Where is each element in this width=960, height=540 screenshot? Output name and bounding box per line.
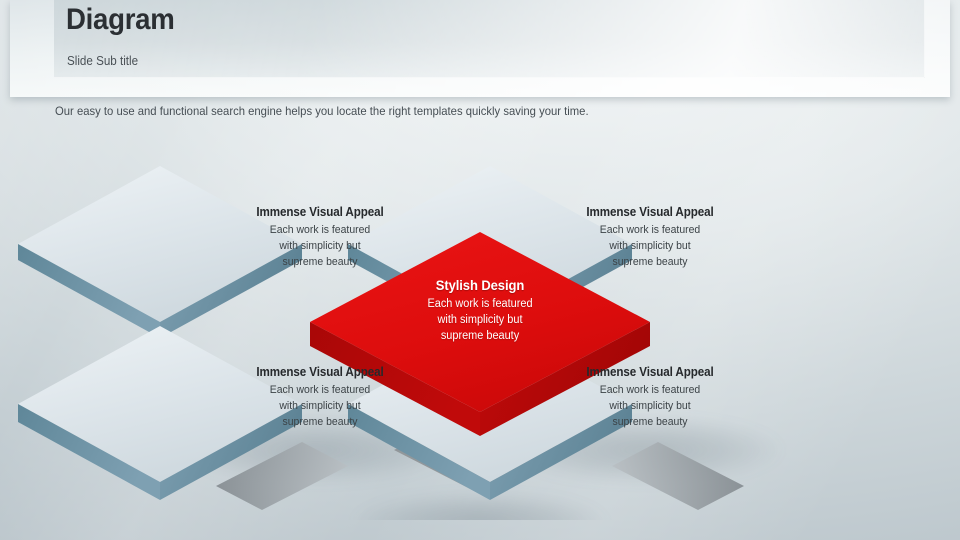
slide-header-panel: Diagram Slide Sub title — [10, 0, 950, 97]
slide-header-inner: Diagram Slide Sub title — [54, 0, 925, 78]
intro-paragraph: Our easy to use and functional search en… — [55, 104, 589, 118]
page-subtitle: Slide Sub title — [67, 54, 138, 68]
page-title: Diagram — [66, 3, 175, 37]
diagram-canvas: Immense Visual Appeal Each work is featu… — [0, 150, 960, 520]
diagram-shapes — [0, 150, 960, 520]
diamond-top-left[interactable] — [15, 166, 315, 338]
